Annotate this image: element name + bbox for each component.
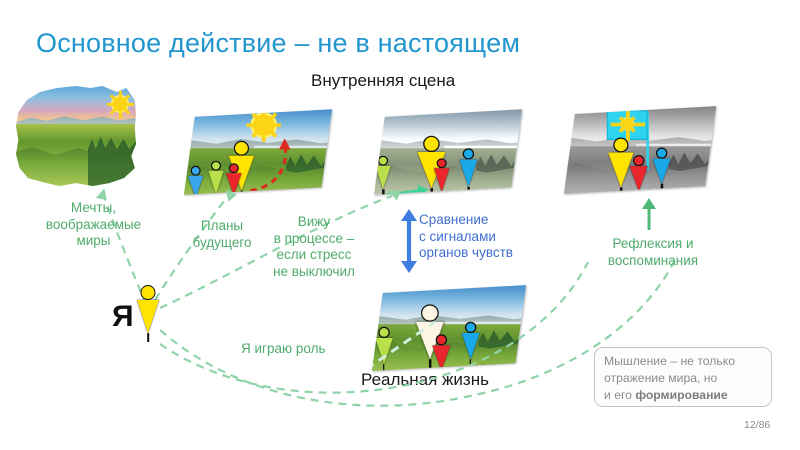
callout-line-3-bold: формирование (635, 388, 727, 402)
label-dreams-l2: воображаемые (31, 217, 156, 234)
callout-line-1: Мышление – не только (604, 353, 763, 370)
page-number: 12/86 (744, 419, 770, 431)
label-compare-l2: с сигналами (419, 229, 513, 246)
label-dreams: Мечты, воображаемые миры (31, 200, 156, 250)
label-seeing-l1: Вижу (262, 214, 366, 231)
self-figure-yellow (135, 285, 161, 333)
callout-line-2: отражение мира, но (604, 370, 763, 387)
label-seeing-l2: в процессе – (262, 231, 366, 248)
label-reflection-l1: Рефлексия и (588, 236, 718, 253)
callout-line-3-prefix: и его (604, 388, 635, 402)
label-seeing-l3: если стресс (262, 247, 366, 264)
label-reflection: Рефлексия и воспоминания (588, 236, 718, 269)
label-compare-l3: органов чувств (419, 245, 513, 262)
label-plans-l1: Планы (182, 218, 262, 235)
label-plans: Планы будущего (182, 218, 262, 251)
label-compare: Сравнение с сигналами органов чувств (419, 212, 513, 262)
label-seeing: Вижу в процессе – если стресс не выключи… (262, 214, 366, 280)
label-role: Я играю роль (241, 341, 326, 358)
callout-box: Мышление – не только отражение мира, но … (594, 347, 772, 407)
arrow-up-icon (637, 196, 663, 232)
label-seeing-l4: не выключил (262, 264, 366, 281)
label-compare-l1: Сравнение (419, 212, 513, 229)
label-reflection-l2: воспоминания (588, 253, 718, 270)
label-dreams-l3: миры (31, 233, 156, 250)
label-dreams-l1: Мечты, (31, 200, 156, 217)
slide-canvas: Основное действие – не в настоящем Внутр… (0, 0, 800, 450)
callout-line-3: и его формирование (604, 387, 763, 404)
self-label: Я (112, 300, 134, 334)
label-plans-l2: будущего (182, 235, 262, 252)
